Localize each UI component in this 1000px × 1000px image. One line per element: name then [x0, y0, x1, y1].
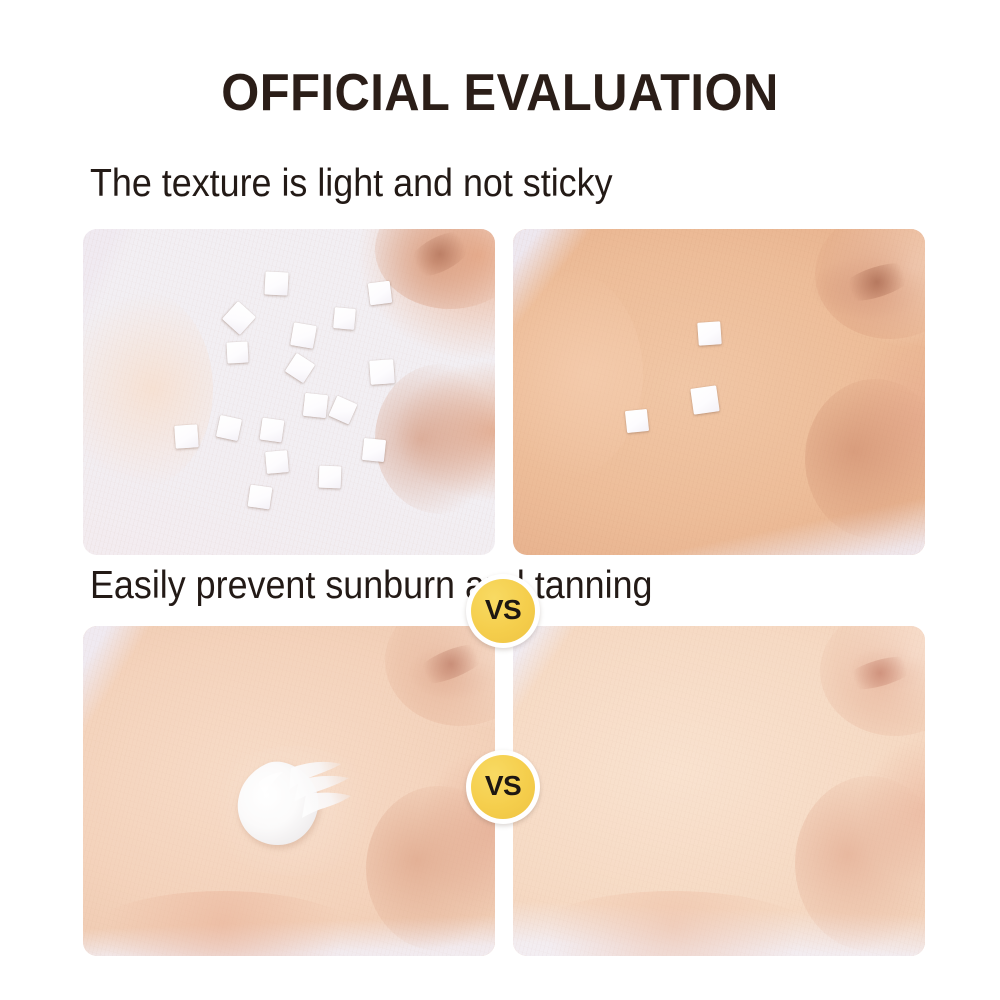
- powder-square: [369, 359, 395, 385]
- powder-square: [319, 466, 342, 489]
- powder-square: [697, 321, 722, 346]
- powder-square: [260, 418, 285, 443]
- vs-badge-circle: VS: [471, 755, 535, 819]
- photo-before-powder-heavy: [83, 229, 495, 555]
- powder-square: [290, 322, 317, 349]
- hand-skin-fair: [513, 626, 925, 956]
- section-heading-sunburn: Easily prevent sunburn and tanning: [90, 566, 653, 605]
- powder-square: [333, 307, 356, 330]
- hand-skin-tan: [83, 229, 495, 555]
- powder-square: [690, 385, 719, 414]
- vs-badge-texture: VS: [466, 574, 540, 648]
- powder-square: [264, 271, 288, 295]
- vs-badge-label: VS: [485, 596, 521, 624]
- powder-square: [174, 424, 199, 449]
- photo-after-powder-light: [513, 229, 925, 555]
- powder-square: [216, 415, 242, 441]
- section-heading-texture: The texture is light and not sticky: [90, 164, 613, 203]
- powder-square: [226, 341, 248, 363]
- powder-square: [265, 450, 289, 474]
- photo-bare-hand: [513, 626, 925, 956]
- product-evaluation-page: OFFICIAL EVALUATION The texture is light…: [0, 0, 1000, 1000]
- hand-skin-fair: [83, 626, 495, 956]
- vs-badge-circle: VS: [471, 579, 535, 643]
- comparison-row-sunburn: VS: [0, 626, 1000, 956]
- powder-square: [302, 392, 327, 417]
- vs-badge-sunburn: VS: [466, 750, 540, 824]
- powder-square: [248, 485, 273, 510]
- powder-square: [362, 438, 386, 462]
- powder-square: [368, 281, 393, 306]
- photo-cream-applied: [83, 626, 495, 956]
- page-title: OFFICIAL EVALUATION: [30, 63, 970, 123]
- powder-square: [625, 409, 649, 433]
- hand-skin-tan: [513, 229, 925, 555]
- comparison-row-texture: VS: [0, 229, 1000, 555]
- vs-badge-label: VS: [485, 772, 521, 800]
